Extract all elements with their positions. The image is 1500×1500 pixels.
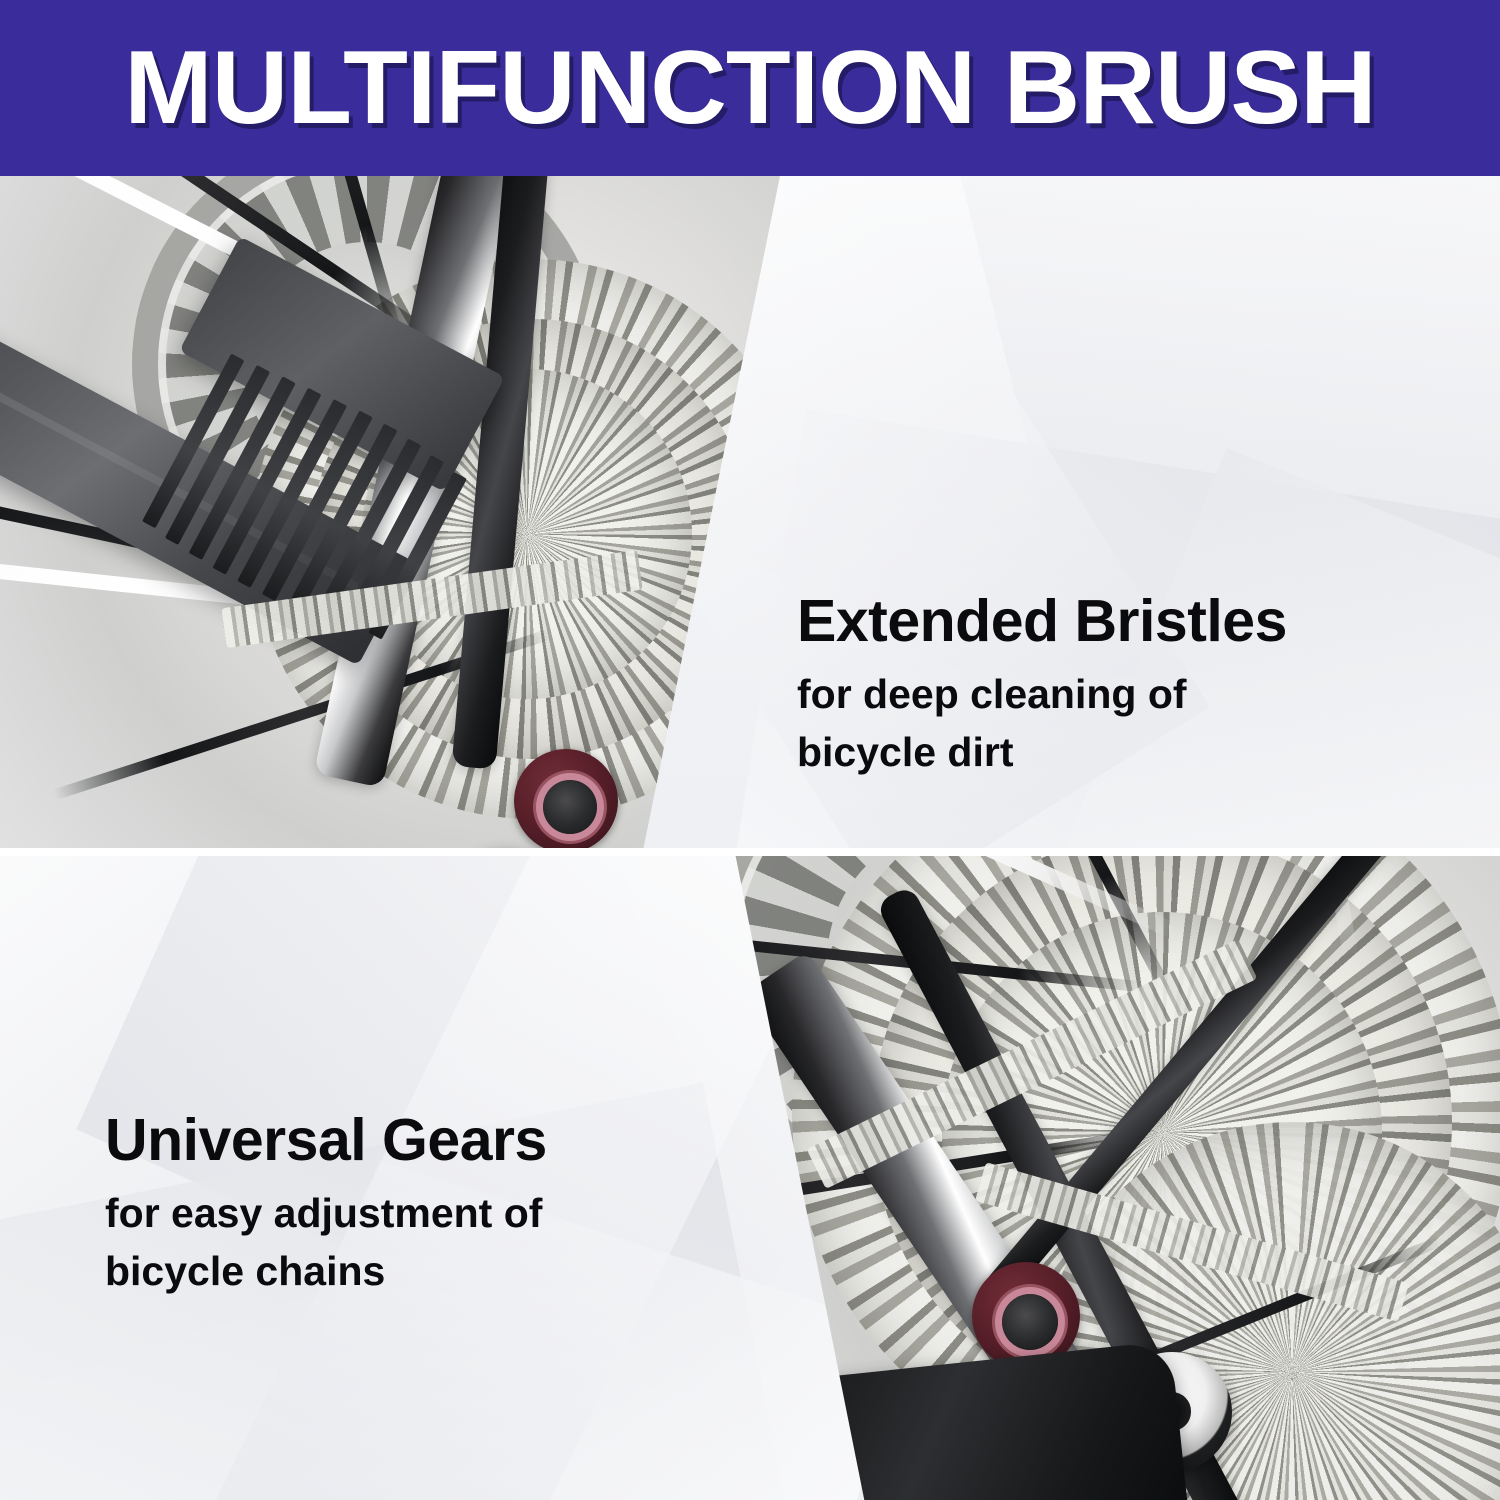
product-infographic: MULTIFUNCTION BRUSH <box>0 0 1500 1500</box>
feature-description: for deep cleaning of bicycle dirt <box>797 665 1457 781</box>
feature-text-extended-bristles: Extended Bristles for deep cleaning of b… <box>797 591 1457 781</box>
feature-description: for easy adjustment of bicycle chains <box>105 1184 765 1300</box>
feature-description-line-1: for deep cleaning of <box>797 665 1457 723</box>
feature-panel-extended-bristles: Extended Bristles for deep cleaning of b… <box>0 176 1500 848</box>
feature-panel-universal-gears: Universal Gears for easy adjustment of b… <box>0 856 1500 1500</box>
page-title: MULTIFUNCTION BRUSH <box>0 0 1500 176</box>
feature-title: Universal Gears <box>105 1110 765 1172</box>
feature-description-line-1: for easy adjustment of <box>105 1184 765 1242</box>
feature-description-line-2: bicycle dirt <box>797 723 1457 781</box>
header-banner: MULTIFUNCTION BRUSH <box>0 0 1500 176</box>
feature-text-universal-gears: Universal Gears for easy adjustment of b… <box>105 1110 765 1300</box>
panel-divider <box>0 848 1500 856</box>
photo-scene <box>0 176 780 848</box>
red-anodized-bolt <box>514 749 618 848</box>
product-photo-brush-on-cassette <box>0 176 780 848</box>
feature-title: Extended Bristles <box>797 591 1457 653</box>
feature-description-line-2: bicycle chains <box>105 1242 765 1300</box>
